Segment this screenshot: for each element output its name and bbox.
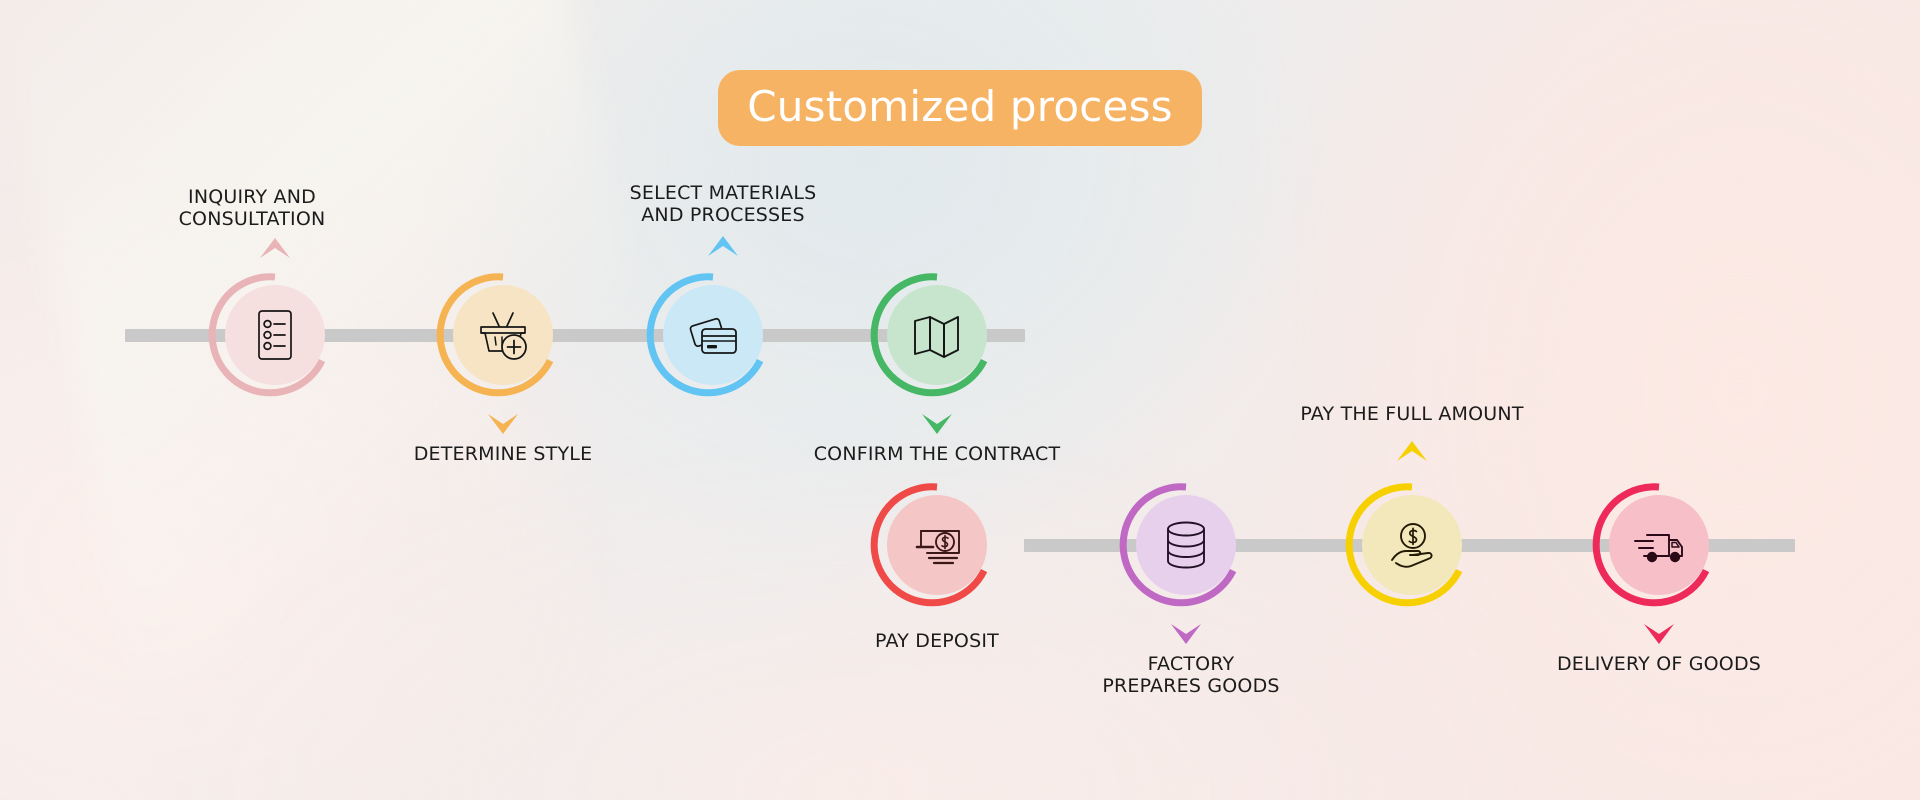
step-node-1[interactable]: [212, 272, 338, 398]
chevron-up-icon-3: [706, 232, 740, 258]
hand-holding-coin-icon: [1382, 515, 1442, 575]
chevron-down-icon-8: [1642, 622, 1676, 648]
chevron-up-icon-1: [258, 234, 292, 260]
node-fill-2: [453, 285, 553, 385]
credit-cards-icon: [683, 305, 743, 365]
infographic-canvas: Customized process INQUIRY AND CONSULTAT…: [0, 0, 1920, 800]
page-title: Customized process: [718, 70, 1202, 146]
shopping-basket-plus-icon: [473, 305, 533, 365]
step-node-2[interactable]: [440, 272, 566, 398]
step-node-5[interactable]: [874, 482, 1000, 608]
node-fill-8: [1609, 495, 1709, 595]
chevron-down-icon-6: [1169, 622, 1203, 648]
checklist-document-icon: [245, 305, 305, 365]
node-fill-6: [1136, 495, 1236, 595]
node-fill-5: [887, 495, 987, 595]
stacked-cylinders-icon: [1156, 515, 1216, 575]
chevron-down-icon-4: [920, 412, 954, 438]
step-node-3[interactable]: [650, 272, 776, 398]
chevron-up-icon-7: [1395, 437, 1429, 463]
banknote-dollar-icon: [907, 515, 967, 575]
step-node-8[interactable]: [1596, 482, 1722, 608]
node-fill-7: [1362, 495, 1462, 595]
step-node-6[interactable]: [1123, 482, 1249, 608]
step-node-4[interactable]: [874, 272, 1000, 398]
node-fill-4: [887, 285, 987, 385]
delivery-truck-icon: [1629, 515, 1689, 575]
page-title-text: Customized process: [747, 86, 1172, 131]
node-fill-3: [663, 285, 763, 385]
chevron-down-icon-2: [486, 412, 520, 438]
node-fill-1: [225, 285, 325, 385]
folded-map-icon: [907, 305, 967, 365]
step-node-7[interactable]: [1349, 482, 1475, 608]
